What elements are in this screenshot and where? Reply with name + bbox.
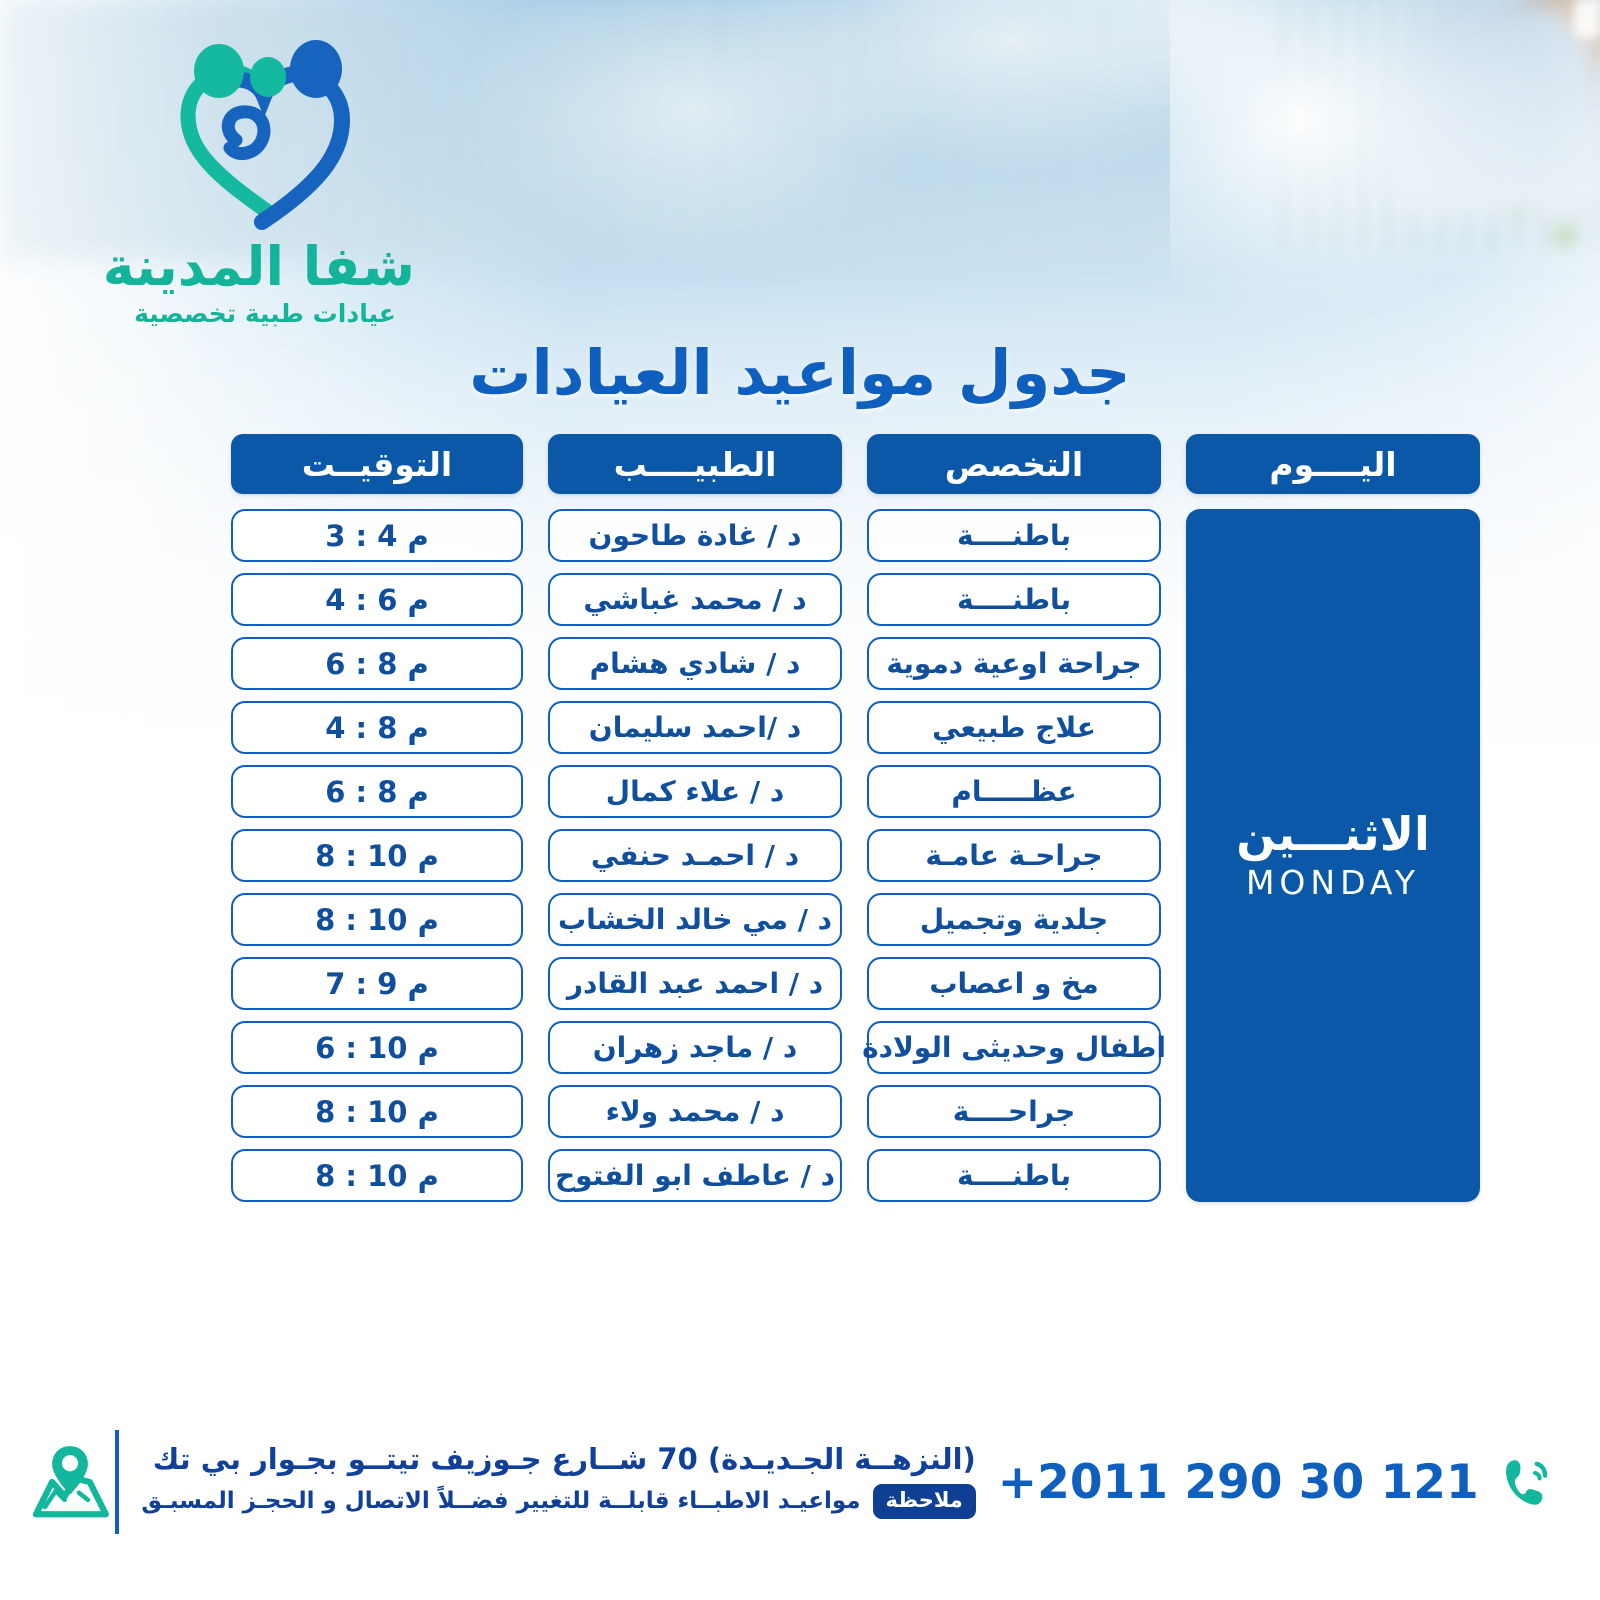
- specialty-cell: باطنــــة: [867, 509, 1161, 562]
- time-cell: 4 : 8 م: [231, 701, 523, 754]
- column-header-specialty: التخصص: [867, 434, 1161, 494]
- specialty-cell: جلدية وتجميل: [867, 893, 1161, 946]
- address-note-block: (النزهــة الجـديـدة) 70 شــارع جـوزيف تي…: [115, 1430, 997, 1534]
- note-line: ملاحظة مواعيـد الاطبــاء قابلــة للتغيير…: [141, 1484, 975, 1519]
- map-location-pin-icon: [25, 1439, 115, 1525]
- brand-name: شفا المدينة: [115, 238, 415, 295]
- doctor-cell: د / غادة طاحون: [548, 509, 842, 562]
- day-label-arabic: الاثنـــين: [1236, 809, 1429, 860]
- column-header-time: التوقيــت: [231, 434, 523, 494]
- column-header-doctor: الطبيــــب: [548, 434, 842, 494]
- specialty-cell: باطنــــة: [867, 573, 1161, 626]
- specialty-cell: اطفال وحديثى الولادة: [867, 1021, 1161, 1074]
- doctor-cell: د / عاطف ابو الفتوح: [548, 1149, 842, 1202]
- time-cell: 6 : 8 م: [231, 637, 523, 690]
- specialty-cell: باطنــــة: [867, 1149, 1161, 1202]
- column-specialty: باطنــــةباطنــــةجراحة اوعية دمويةعلاج …: [867, 509, 1161, 1202]
- brand-logo: شفا المدينة عيادات طبية تخصصية: [115, 36, 415, 328]
- time-cell: 7 : 9 م: [231, 957, 523, 1010]
- clinic-schedule-poster: شفا المدينة عيادات طبية تخصصية جدول مواع…: [0, 0, 1600, 1600]
- doctor-cell: د / محمد غباشي: [548, 573, 842, 626]
- table-body: الاثنـــين MONDAY باطنــــةباطنــــةجراح…: [220, 509, 1480, 1202]
- time-cell: 8 : 10 م: [231, 893, 523, 946]
- specialty-cell: جراحـة عامـة: [867, 829, 1161, 882]
- schedule-table: اليــــوم التخصص الطبيــــب التوقيــت ال…: [220, 434, 1480, 1202]
- doctor-cell: د /احمد سليمان: [548, 701, 842, 754]
- day-label-english: MONDAY: [1246, 863, 1420, 902]
- specialty-cell: مخ و اعصاب: [867, 957, 1161, 1010]
- brand-tagline: عيادات طبية تخصصية: [115, 299, 415, 328]
- time-cell: 8 : 10 م: [231, 1149, 523, 1202]
- specialty-cell: علاج طبيعي: [867, 701, 1161, 754]
- page-title: جدول مواعيد العيادات: [0, 336, 1600, 409]
- phone-call-icon: [1497, 1453, 1555, 1511]
- doctor-cell: د / احمـد حنفي: [548, 829, 842, 882]
- doctor-cell: د / مي خالد الخشاب: [548, 893, 842, 946]
- note-text: مواعيـد الاطبــاء قابلــة للتغيير فضــلا…: [141, 1490, 860, 1513]
- time-cell: 4 : 6 م: [231, 573, 523, 626]
- phone-number[interactable]: +2011 290 30 121: [998, 1459, 1479, 1506]
- column-time: 3 : 4 م4 : 6 م6 : 8 م4 : 8 م6 : 8 م8 : 1…: [231, 509, 523, 1202]
- doctor-cell: د / ماجد زهران: [548, 1021, 842, 1074]
- day-cell-monday: الاثنـــين MONDAY: [1186, 509, 1480, 1202]
- time-cell: 8 : 10 م: [231, 829, 523, 882]
- doctor-cell: د / محمد ولاء: [548, 1085, 842, 1138]
- doctor-cell: د / علاء كمال: [548, 765, 842, 818]
- time-cell: 6 : 10 م: [231, 1021, 523, 1074]
- time-cell: 6 : 8 م: [231, 765, 523, 818]
- specialty-cell: جراحــــة: [867, 1085, 1161, 1138]
- clinic-address: (النزهــة الجـديـدة) 70 شــارع جـوزيف تي…: [141, 1445, 975, 1474]
- column-header-day: اليــــوم: [1186, 434, 1480, 494]
- heart-family-logo-icon: [176, 36, 354, 236]
- time-cell: 8 : 10 م: [231, 1085, 523, 1138]
- column-doctor: د / غادة طاحوند / محمد غباشيد / شادي هشا…: [548, 509, 842, 1202]
- specialty-cell: جراحة اوعية دموية: [867, 637, 1161, 690]
- bg-logo-backdrop: [1170, 0, 1600, 360]
- doctor-cell: د / شادي هشام: [548, 637, 842, 690]
- doctor-cell: د / احمد عبد القادر: [548, 957, 842, 1010]
- time-cell: 3 : 4 م: [231, 509, 523, 562]
- footer: (النزهــة الجـديـدة) 70 شــارع جـوزيف تي…: [0, 1422, 1600, 1542]
- specialty-cell: عظـــــام: [867, 765, 1161, 818]
- table-header-row: اليــــوم التخصص الطبيــــب التوقيــت: [220, 434, 1480, 494]
- note-badge: ملاحظة: [873, 1484, 976, 1519]
- phone-block[interactable]: +2011 290 30 121: [998, 1453, 1581, 1511]
